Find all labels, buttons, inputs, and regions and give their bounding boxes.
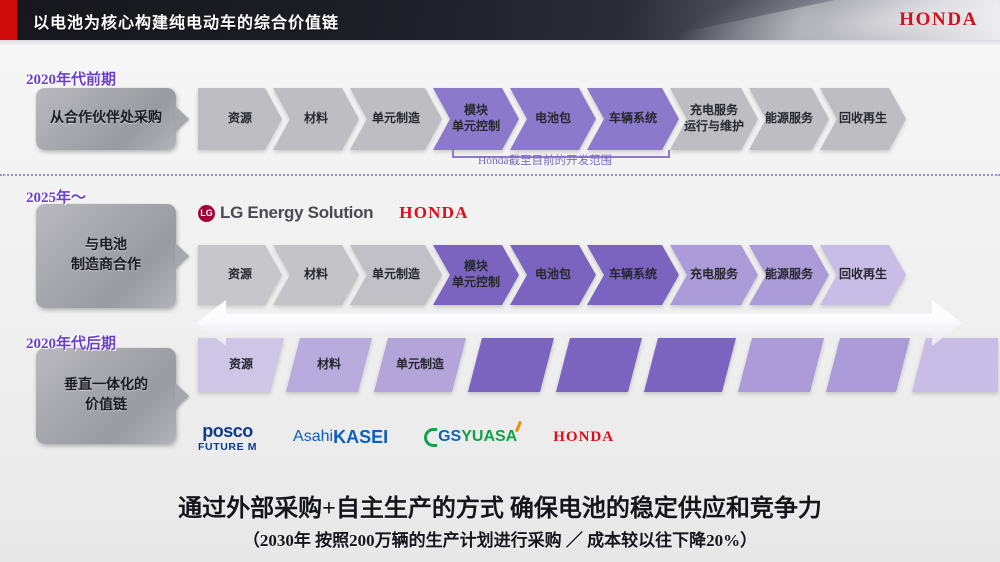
honda-label-row-2: HONDA — [399, 203, 468, 223]
posco-label: posco — [202, 422, 253, 440]
slide-canvas: 以电池为核心构建纯电动车的综合价值链 HONDA 2020年代前期 从合作伙伴处… — [0, 0, 1000, 562]
chain-segment-label: 回收再生 — [839, 111, 887, 127]
chain-segment[interactable]: 模块 单元控制 — [433, 245, 519, 305]
chain-segment-label: 资源 — [229, 357, 253, 373]
chain-segment[interactable]: 能源服务 — [749, 245, 829, 305]
chain-segment[interactable]: 单元制造 — [350, 88, 442, 150]
chain-segment[interactable] — [738, 338, 824, 392]
chain-segment-label: 单元制造 — [396, 357, 444, 373]
chain-segment[interactable]: 模块 单元控制 — [433, 88, 519, 150]
chain-segment-label: 回收再生 — [839, 267, 887, 283]
callout-arrow-row-2 — [175, 243, 189, 269]
chain-segment[interactable]: 资源 — [198, 88, 282, 150]
chain-segment[interactable] — [556, 338, 642, 392]
asahi-label: Asahi — [293, 428, 333, 446]
chain-segment-label: 能源服务 — [765, 267, 813, 283]
chain-segment[interactable] — [826, 338, 910, 392]
header-accent-bar — [0, 0, 17, 40]
chain-segment[interactable]: 充电服务 运行与维护 — [670, 88, 758, 150]
logo-asahi-kasei: AsahiKASEI — [293, 427, 388, 448]
chain-segment[interactable]: 电池包 — [510, 88, 596, 150]
chain-segment[interactable] — [644, 338, 736, 392]
honda-label-row-3: HONDA — [553, 429, 614, 446]
chain-segment[interactable]: 材料 — [273, 88, 359, 150]
callout-row-2: 与电池 制造商合作 — [36, 204, 176, 308]
chain-segment-label: 能源服务 — [765, 111, 813, 127]
callout-text-row-2: 与电池 制造商合作 — [71, 236, 141, 277]
chain-segment[interactable]: 回收再生 — [820, 245, 906, 305]
logo-gs-yuasa: GS YUASA — [424, 428, 517, 447]
chain-segment[interactable]: 回收再生 — [820, 88, 906, 150]
chain-segment[interactable]: 资源 — [198, 338, 284, 392]
callout-row-3: 垂直一体化的 价值链 — [36, 348, 176, 444]
callout-text-row-1: 从合作伙伴处采购 — [50, 109, 162, 129]
page-title: 以电池为核心构建纯电动车的综合价值链 — [33, 9, 339, 33]
chain-segment-label: 模块 单元控制 — [452, 259, 500, 290]
chain-segment[interactable] — [912, 338, 998, 392]
value-chain-row-1: 资源材料单元制造模块 单元控制电池包车辆系统充电服务 运行与维护能源服务回收再生 — [198, 88, 897, 150]
chain-segment[interactable]: 单元制造 — [350, 245, 442, 305]
chain-segment[interactable]: 材料 — [273, 245, 359, 305]
era-tag-row-3: 2020年代后期 — [26, 332, 116, 353]
chain-segment-label: 资源 — [228, 111, 252, 127]
chain-segment[interactable]: 单元制造 — [374, 338, 466, 392]
yuasa-label: YUASA — [461, 428, 517, 446]
logo-honda-row-3: HONDA — [553, 429, 614, 446]
gs-yuasa-arc-icon — [424, 428, 437, 447]
lg-circle-icon: LG — [198, 205, 215, 222]
chain-segment-label: 电池包 — [535, 267, 571, 283]
gs-label: GS — [438, 428, 461, 446]
summary-line-1: 通过外部采购+自主生产的方式 确保电池的稳定供应和竞争力 — [0, 488, 1000, 523]
chain-segment[interactable]: 充电服务 — [670, 245, 758, 305]
era-tag-row-2: 2025年〜 — [26, 186, 86, 207]
chain-segment[interactable]: 车辆系统 — [587, 245, 679, 305]
callout-arrow-row-1 — [175, 106, 189, 132]
chain-segment-label: 单元制造 — [372, 111, 420, 127]
partner-logos-row-2: LG LG Energy Solution HONDA — [198, 201, 469, 225]
lg-energy-solution-label: LG Energy Solution — [220, 203, 373, 223]
chain-segment-label: 材料 — [304, 111, 328, 127]
honda-brand-logo: HONDA — [899, 9, 978, 31]
chain-segment-label: 材料 — [317, 357, 341, 373]
summary-line-2: （2030年 按照200万辆的生产计划进行采购 ／ 成本较以往下降20%） — [0, 526, 1000, 551]
era-tag-row-1: 2020年代前期 — [26, 68, 116, 89]
chain-segment-label: 资源 — [228, 267, 252, 283]
kasei-label: KASEI — [333, 427, 388, 448]
chain-segment[interactable]: 能源服务 — [749, 88, 829, 150]
chain-segment[interactable]: 车辆系统 — [587, 88, 679, 150]
slide-header: 以电池为核心构建纯电动车的综合价值链 HONDA — [0, 0, 1000, 40]
callout-arrow-row-3 — [175, 383, 189, 409]
chain-segment-label: 模块 单元控制 — [452, 103, 500, 134]
chain-segment-label: 电池包 — [535, 111, 571, 127]
value-chain-row-2: 资源材料单元制造模块 单元控制电池包车辆系统充电服务能源服务回收再生 — [198, 245, 897, 305]
callout-row-1: 从合作伙伴处采购 — [36, 88, 176, 150]
logo-posco-future-m: posco FUTURE M — [198, 422, 257, 453]
chain-segment-label: 充电服务 运行与维护 — [684, 103, 744, 134]
logo-lg-energy-solution: LG LG Energy Solution — [198, 203, 373, 223]
chain-segment-label: 单元制造 — [372, 267, 420, 283]
chain-segment[interactable]: 材料 — [286, 338, 372, 392]
header-underglow — [0, 40, 1000, 46]
callout-text-row-3: 垂直一体化的 价值链 — [64, 376, 148, 417]
logo-honda-row-2: HONDA — [399, 203, 468, 223]
chain-segment[interactable]: 资源 — [198, 245, 282, 305]
chain-segment[interactable] — [468, 338, 554, 392]
scope-caption: Honda截至目前的开发范围 — [478, 152, 612, 168]
chain-segment-label: 车辆系统 — [609, 111, 657, 127]
partner-logos-row-3: posco FUTURE M AsahiKASEI GS YUASA HONDA — [198, 422, 614, 452]
section-divider-1 — [0, 174, 1000, 176]
chain-segment-label: 材料 — [304, 267, 328, 283]
value-chain-row-3: 资源材料单元制造 — [198, 338, 1000, 392]
chain-segment-label: 充电服务 — [690, 267, 738, 283]
chain-segment[interactable]: 电池包 — [510, 245, 596, 305]
posco-future-m-label: FUTURE M — [198, 442, 257, 453]
chain-segment-label: 车辆系统 — [609, 267, 657, 283]
